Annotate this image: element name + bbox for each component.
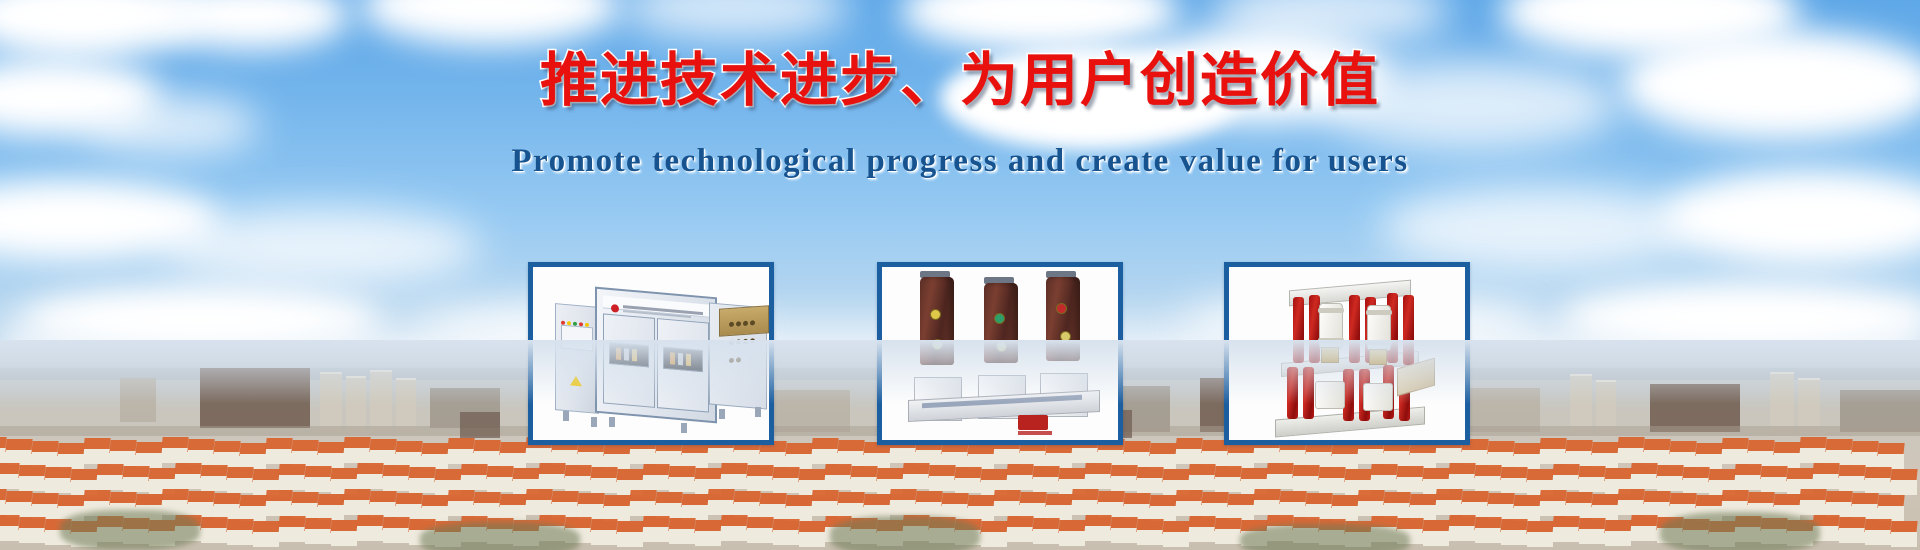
subtitle-english: Promote technological progress and creat…	[0, 143, 1920, 180]
busbar-duct	[719, 305, 769, 336]
brand-seal-logo-icon	[1018, 415, 1052, 437]
manufacturer-logo-icon	[611, 304, 619, 313]
promotional-banner: 推进技术进步、为用户创造价值 Promote technological pro…	[0, 0, 1920, 550]
headline-chinese: 推进技术进步、为用户创造价值	[0, 52, 1920, 110]
